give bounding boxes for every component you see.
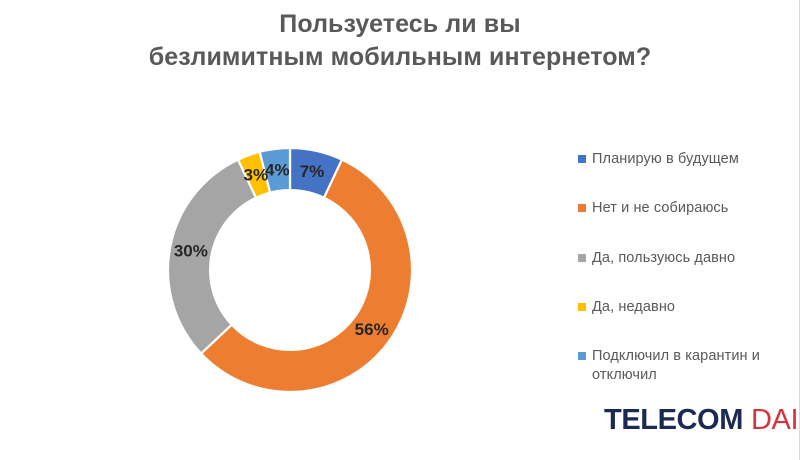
donut-slices: [168, 148, 412, 392]
donut-slice-label: 30%: [174, 242, 208, 261]
legend-item-label: Да, недавно: [592, 298, 675, 317]
logo-primary-text: TELECOM: [604, 404, 743, 437]
telecom-daily-logo: TELECOM DAILY: [604, 404, 800, 437]
legend-item[interactable]: Подключил в карантин и отключил: [578, 347, 788, 386]
donut-chart: 7%56%30%3%4%: [118, 98, 462, 442]
legend-item-label: Подключил в карантин и отключил: [592, 347, 788, 386]
legend-item[interactable]: Планирую в будущем: [578, 150, 788, 169]
legend-item-label: Да, пользуюсь давно: [592, 249, 735, 268]
page-title-line-2: безлимитным мобильным интернетом?: [60, 41, 740, 74]
legend-swatch-icon: [578, 204, 586, 212]
legend-item-label: Планирую в будущем: [592, 150, 739, 169]
legend-swatch-icon: [578, 303, 586, 311]
page-title-line-1: Пользуетесь ли вы: [60, 8, 740, 41]
legend-swatch-icon: [578, 254, 586, 262]
page-title: Пользуетесь ли вы безлимитным мобильным …: [60, 8, 740, 73]
legend-swatch-icon: [578, 352, 586, 360]
legend-item[interactable]: Да, недавно: [578, 298, 788, 317]
logo-secondary-text: DAILY: [751, 404, 800, 437]
legend-item-label: Нет и не собираюсь: [592, 199, 728, 218]
donut-slice-label: 7%: [300, 162, 325, 181]
donut-slice-label: 56%: [355, 320, 389, 339]
donut-chart-svg: 7%56%30%3%4%: [118, 98, 462, 442]
legend-item[interactable]: Нет и не собираюсь: [578, 199, 788, 218]
chart-legend: Планирую в будущемНет и не собираюсьДа, …: [578, 150, 788, 386]
legend-swatch-icon: [578, 155, 586, 163]
legend-item[interactable]: Да, пользуюсь давно: [578, 249, 788, 268]
infographic-canvas: Пользуетесь ли вы безлимитным мобильным …: [0, 0, 800, 460]
donut-slice-label: 4%: [265, 160, 290, 179]
